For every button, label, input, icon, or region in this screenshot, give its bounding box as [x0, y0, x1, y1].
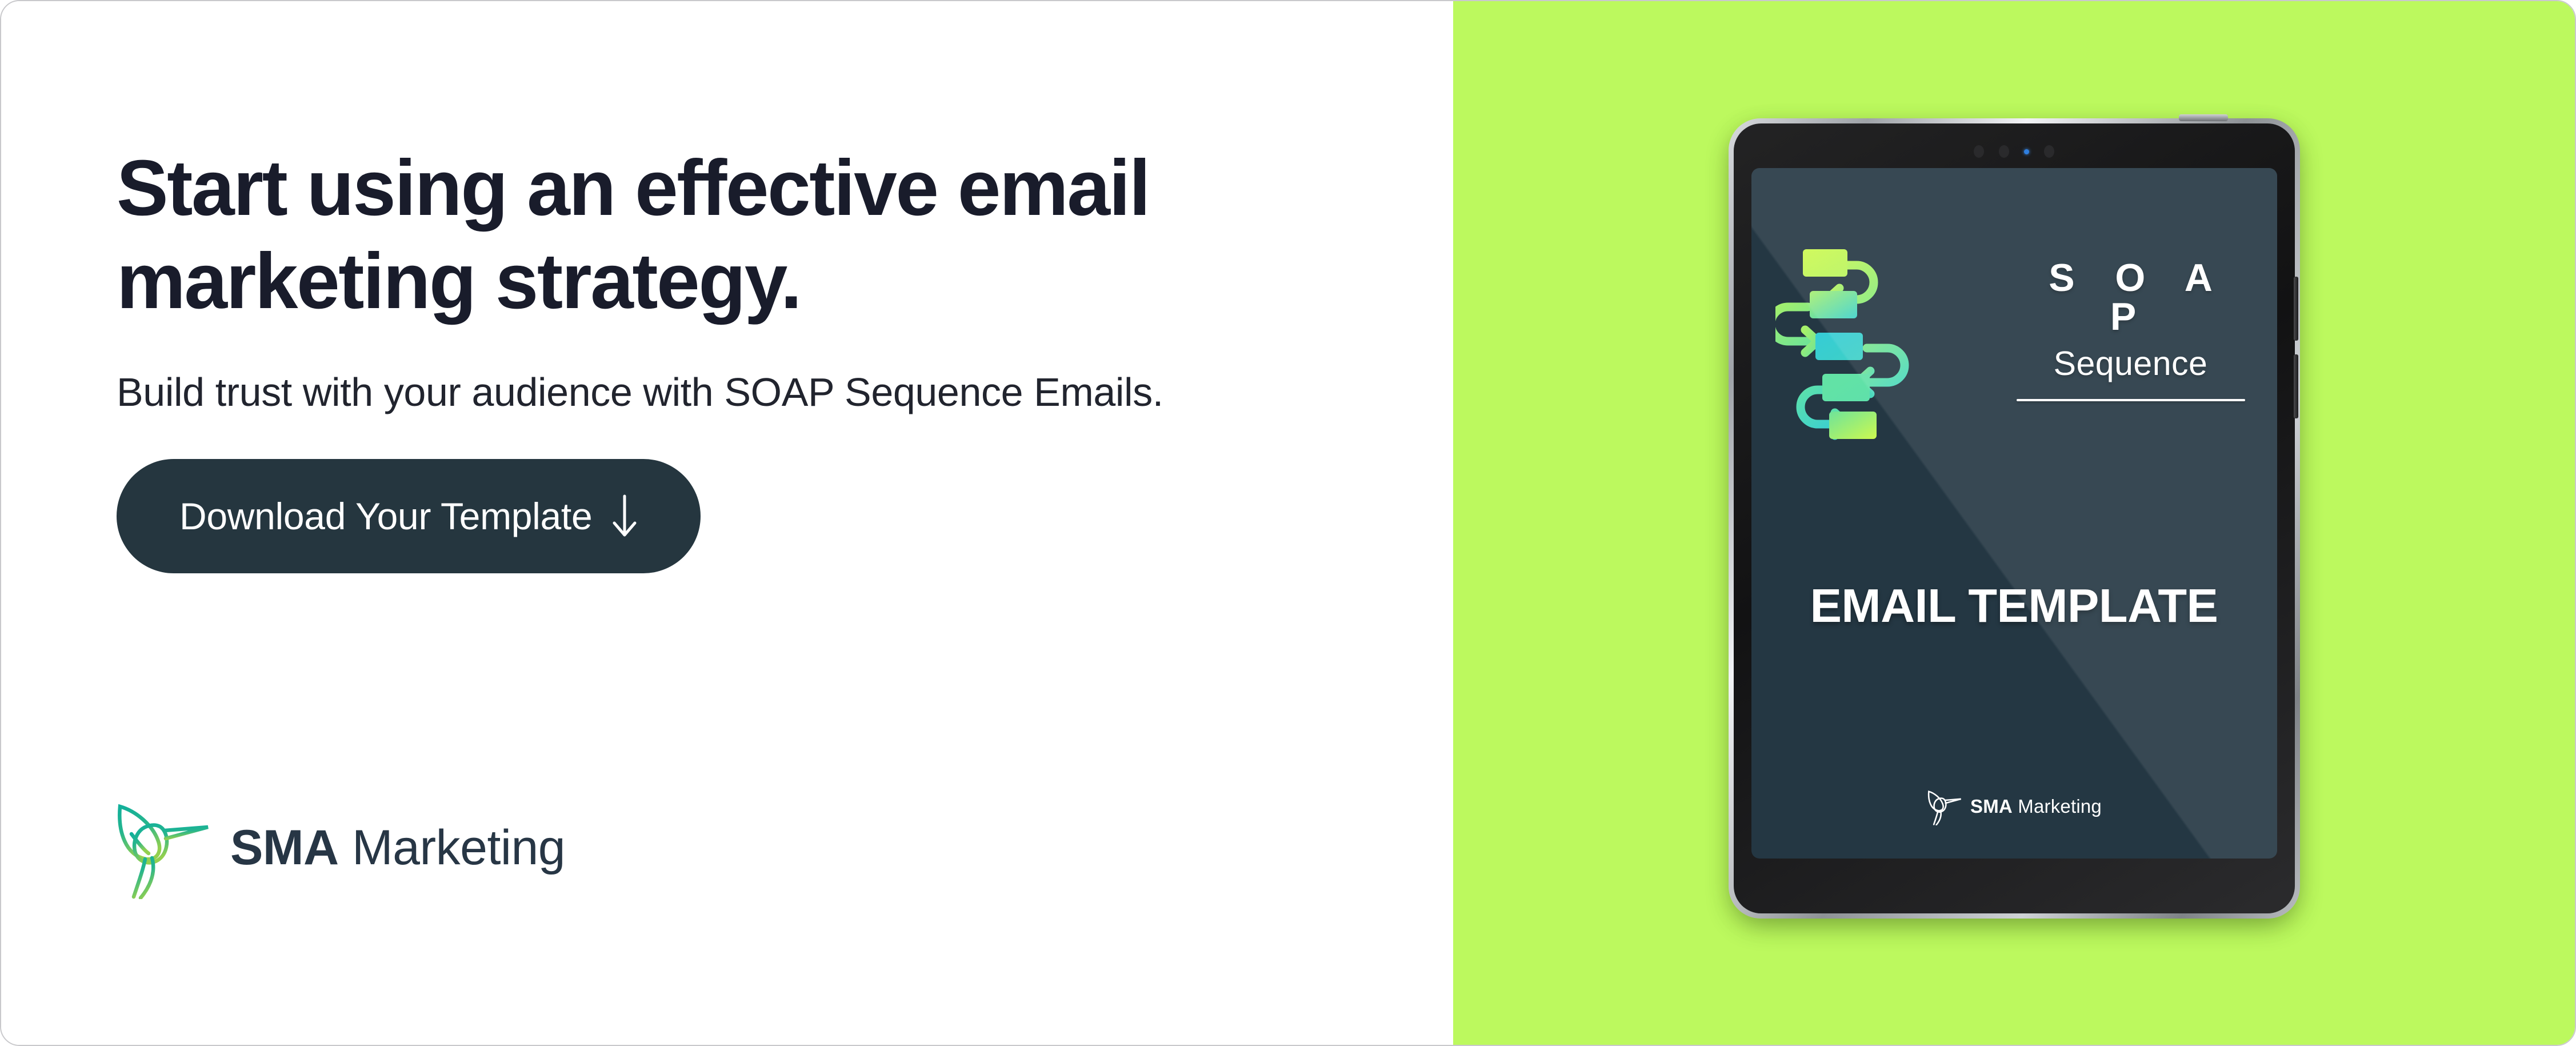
status-led-icon	[2024, 149, 2029, 154]
screen-logo-name-light: Marketing	[2018, 796, 2102, 817]
hummingbird-icon	[113, 796, 213, 899]
left-content-panel: Start using an effective email marketing…	[1, 1, 1453, 1045]
soap-subtitle: Sequence	[2017, 344, 2245, 384]
camera-sensor-icon	[1974, 145, 1984, 158]
logo-name-suffix: Marketing	[352, 820, 565, 875]
right-visual-panel: S O A P Sequence EMAIL TEMPLATE	[1453, 1, 2575, 1045]
screen-content: S O A P Sequence EMAIL TEMPLATE	[1751, 168, 2277, 859]
volume-up-button[interactable]	[2294, 277, 2298, 341]
page-title: Start using an effective email marketing…	[117, 142, 1343, 328]
download-template-label: Download Your Template	[179, 494, 592, 538]
download-template-button[interactable]: Download Your Template	[117, 459, 701, 573]
power-button[interactable]	[2179, 114, 2228, 121]
logo-name-light	[339, 820, 352, 875]
soap-sequence-lockup: S O A P Sequence	[2017, 258, 2245, 401]
ambient-sensor-icon	[2044, 145, 2054, 158]
tablet-device-mockup: S O A P Sequence EMAIL TEMPLATE	[1729, 118, 2300, 919]
soap-sequence-flow-diagram	[1775, 242, 1998, 442]
download-arrow-icon	[611, 494, 638, 538]
screen-logo-name-bold: SMA	[1970, 796, 2013, 817]
hummingbird-icon	[1926, 788, 1963, 825]
logo-name-bold: SMA	[230, 820, 339, 875]
promo-banner: Start using an effective email marketing…	[0, 0, 2576, 1046]
soap-title: S O A P	[2017, 258, 2245, 336]
volume-down-button[interactable]	[2294, 354, 2298, 418]
sma-marketing-logo: SMA Marketing	[113, 796, 565, 899]
screen-logo-space	[2013, 796, 2018, 817]
camera-array	[1734, 145, 2295, 158]
camera-lens-icon	[1999, 145, 2009, 158]
divider	[2017, 399, 2245, 401]
subheadline: Build trust with your audience with SOAP…	[117, 367, 1402, 418]
screen-logo-wordmark: SMA Marketing	[1970, 796, 2102, 817]
tablet-screen: S O A P Sequence EMAIL TEMPLATE	[1751, 168, 2277, 859]
sma-marketing-wordmark: SMA Marketing	[230, 820, 565, 876]
email-template-caption: EMAIL TEMPLATE	[1751, 578, 2277, 633]
tablet-body: S O A P Sequence EMAIL TEMPLATE	[1734, 123, 2295, 913]
screen-sma-marketing-logo: SMA Marketing	[1751, 788, 2277, 825]
